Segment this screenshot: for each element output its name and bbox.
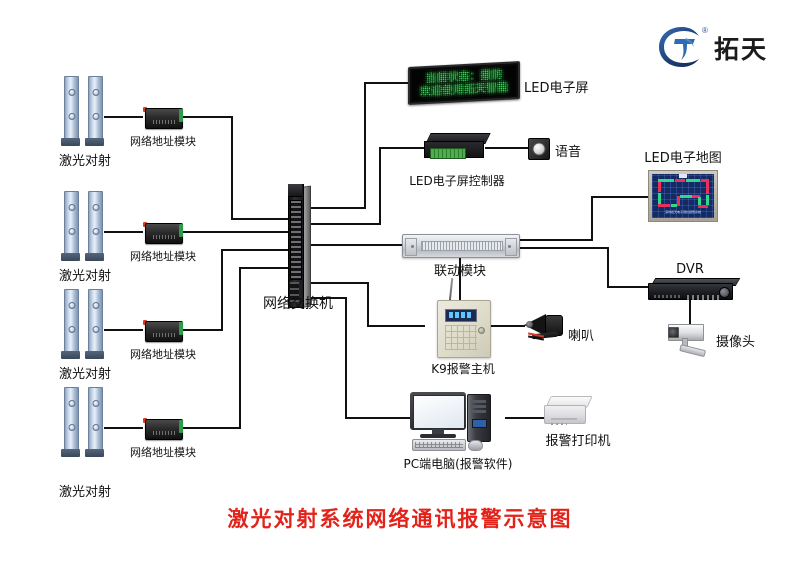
k9-alarm-host-label: K9报警主机 xyxy=(431,360,495,377)
camera-lens-icon xyxy=(668,327,679,338)
led-screen-controller-label: LED电子屏控制器 xyxy=(409,172,505,189)
led-display-screen[interactable]: 当前状态：撤防 欢迎使用拓天智能 xyxy=(408,61,520,105)
laser-beam-detector-3-label: 激光对射 xyxy=(59,363,111,382)
led-electronic-map[interactable]: 深圳拓天电子围栏报警系统 xyxy=(648,170,718,222)
alarm-host-lcd xyxy=(445,309,477,322)
voice-speaker[interactable] xyxy=(528,138,550,160)
laser-beam-detector-1[interactable] xyxy=(62,74,108,146)
workstation[interactable] xyxy=(410,392,506,448)
linkage-module-label: 联动模块 xyxy=(434,260,486,279)
paper-slot xyxy=(551,418,577,420)
speaker-driver-icon xyxy=(533,143,546,156)
alarm-printer-label: 报警打印机 xyxy=(545,430,610,449)
linkage-module[interactable] xyxy=(402,234,520,258)
network-switch[interactable] xyxy=(288,184,310,306)
network-address-module-3-label: 网络地址模块 xyxy=(130,346,196,362)
network-address-module-4-label: 网络地址模块 xyxy=(130,444,196,460)
network-switch-label: 网络交换机 xyxy=(263,293,333,313)
laser-base xyxy=(85,138,104,146)
brand-name: 拓天 xyxy=(714,30,768,66)
voice-speaker-label: 语音 xyxy=(555,141,581,160)
dvr-label: DVR xyxy=(676,262,704,277)
k9-alarm-host[interactable] xyxy=(437,300,489,358)
tuotian-logo-mark xyxy=(656,24,708,70)
network-address-module-4[interactable] xyxy=(143,416,183,440)
lock-icon xyxy=(478,327,485,334)
laser-lens-icon xyxy=(92,89,99,96)
laser-beam-detector-4-label: 激光对射 xyxy=(59,481,111,500)
pc-tower[interactable] xyxy=(467,394,491,442)
network-address-module-1[interactable] xyxy=(143,105,183,129)
led-map-caption: 深圳拓天电子围栏报警系统 xyxy=(665,210,701,214)
keyboard[interactable] xyxy=(412,439,466,451)
led-screen-controller[interactable] xyxy=(424,133,486,159)
network-address-module-2[interactable] xyxy=(143,220,183,244)
laser-beam-detector-4[interactable] xyxy=(62,385,108,457)
workstation-label: PC端电脑(报警软件) xyxy=(404,455,513,472)
dvr-recorder[interactable] xyxy=(648,278,736,300)
switch-ports xyxy=(290,200,302,280)
laser-beam-detector-1-label: 激光对射 xyxy=(59,150,111,169)
laser-lens-icon xyxy=(68,89,75,96)
diagram-title: 激光对射系统网络通讯报警示意图 xyxy=(228,503,573,533)
laser-post-left xyxy=(64,76,79,140)
laser-base xyxy=(61,138,80,146)
monitor[interactable] xyxy=(410,392,466,430)
laser-lens-icon xyxy=(68,113,75,120)
dvr-jog-dial xyxy=(719,287,730,298)
laser-beam-detector-3[interactable] xyxy=(62,287,108,359)
laser-lens-icon xyxy=(92,113,99,120)
network-address-module-3[interactable] xyxy=(143,318,183,342)
brand-logo: ® 拓天 xyxy=(656,24,786,70)
cctv-camera[interactable] xyxy=(666,322,716,356)
alarm-host-keypad[interactable] xyxy=(445,325,477,350)
diagram-canvas: 激光对射 激光对射 激光对射 激光对射 网络地址模块 网络地址模块 网络地址模块… xyxy=(0,0,800,579)
led-map-label: LED电子地图 xyxy=(644,147,721,166)
network-address-module-2-label: 网络地址模块 xyxy=(130,248,196,264)
horn-speaker-label: 喇叭 xyxy=(568,325,594,344)
laser-beam-detector-2-label: 激光对射 xyxy=(59,265,111,284)
green-terminal-block xyxy=(430,148,466,159)
network-address-module-1-label: 网络地址模块 xyxy=(130,133,196,149)
alarm-printer[interactable] xyxy=(544,396,590,426)
led-display-label: LED电子屏 xyxy=(524,77,588,96)
laser-post-right xyxy=(88,76,103,140)
cctv-camera-label: 摄像头 xyxy=(716,331,755,350)
laser-beam-detector-2[interactable] xyxy=(62,189,108,261)
horn-speaker[interactable] xyxy=(524,312,570,342)
linkage-terminal-strip xyxy=(421,241,503,251)
registered-mark: ® xyxy=(702,26,708,35)
mouse[interactable] xyxy=(468,440,483,451)
terminal-connector xyxy=(179,109,183,122)
